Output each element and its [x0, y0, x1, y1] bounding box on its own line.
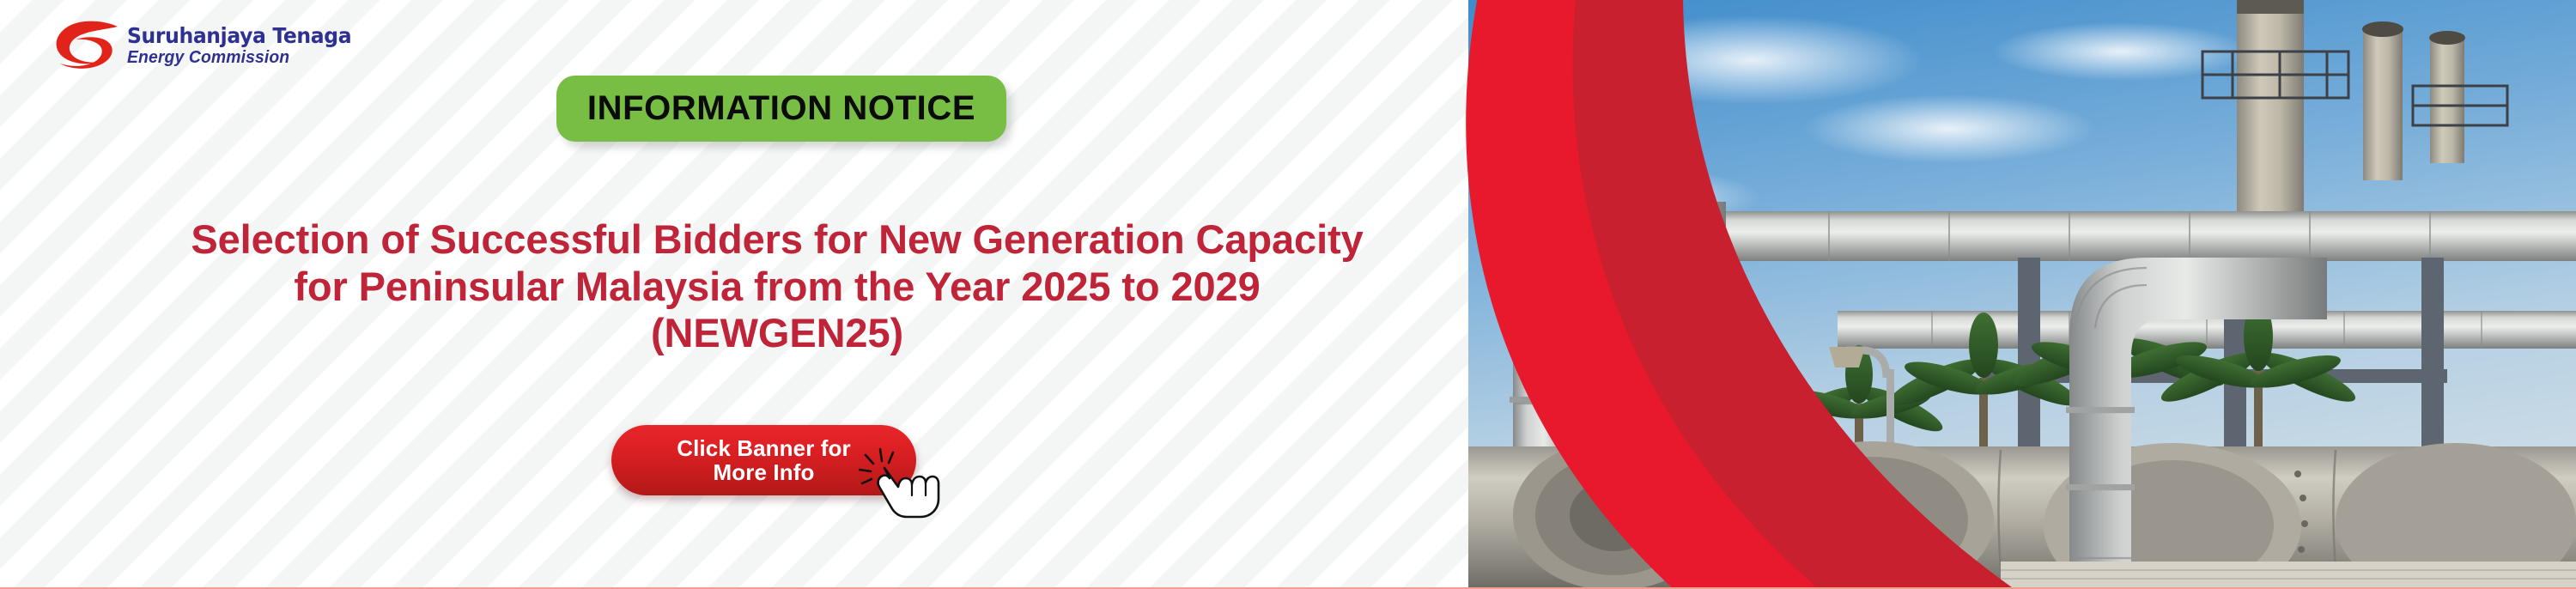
logo-title-english: Energy Commission: [127, 49, 359, 66]
industrial-plant-photo: [1468, 0, 2576, 589]
cta-area: Click Banner for More Info: [611, 425, 938, 518]
banner-headline: Selection of Successful Bidders for New …: [0, 216, 1554, 357]
logo-title-malay: Suruhanjaya Tenaga: [127, 25, 351, 46]
click-banner-more-info-button[interactable]: Click Banner for More Info: [611, 425, 916, 495]
cta-label-line-2: More Info: [714, 460, 815, 484]
information-notice-banner[interactable]: Suruhanjaya Tenaga Energy Commission INF…: [0, 0, 2576, 589]
headline-line-2: for Peninsular Malaysia from the Year 20…: [0, 264, 1554, 311]
headline-line-3: (NEWGEN25): [0, 310, 1554, 357]
cta-label-line-1: Click Banner for: [677, 436, 850, 460]
information-notice-label: INFORMATION NOTICE: [587, 89, 975, 128]
energy-commission-swoosh-icon: [50, 19, 124, 72]
information-notice-badge: INFORMATION NOTICE: [556, 76, 1006, 142]
energy-commission-logo[interactable]: Suruhanjaya Tenaga Energy Commission: [50, 12, 350, 79]
logo-wordmark: Suruhanjaya Tenaga Energy Commission: [127, 25, 366, 66]
headline-line-1: Selection of Successful Bidders for New …: [0, 216, 1554, 264]
plant-photo-illustration: [1468, 0, 2576, 589]
